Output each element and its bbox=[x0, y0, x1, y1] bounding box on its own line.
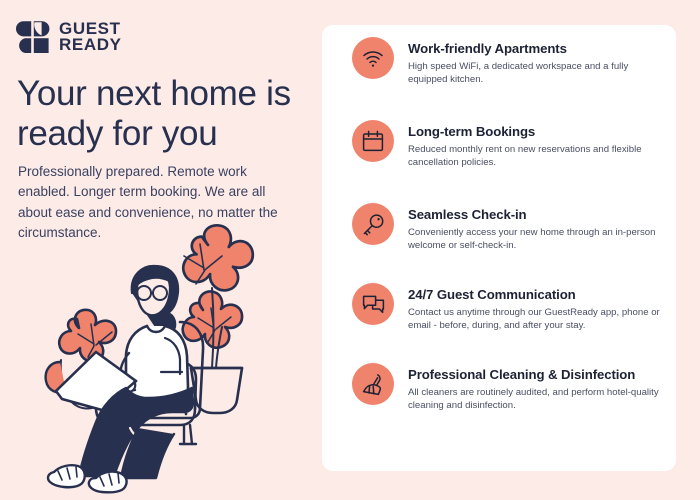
feature-item-guest-communication[interactable]: 24/7 Guest Communication Contact us anyt… bbox=[352, 283, 662, 333]
feature-description: Reduced monthly rent on new reservations… bbox=[408, 143, 662, 170]
feature-title: Work-friendly Apartments bbox=[408, 41, 662, 57]
page-title: Your next home is ready for you bbox=[17, 74, 307, 153]
chat-bubbles-icon bbox=[352, 283, 394, 325]
promo-page: GUEST READY Your next home is ready for … bbox=[0, 0, 700, 500]
feature-description: All cleaners are routinely audited, and … bbox=[408, 386, 662, 413]
key-icon bbox=[352, 203, 394, 245]
feature-text: Long-term Bookings Reduced monthly rent … bbox=[408, 120, 662, 170]
feature-text: Professional Cleaning & Disinfection All… bbox=[408, 363, 662, 413]
feature-title: Seamless Check-in bbox=[408, 207, 662, 223]
feature-text: Work-friendly Apartments High speed WiFi… bbox=[408, 37, 662, 87]
feature-title: 24/7 Guest Communication bbox=[408, 287, 662, 303]
hero-column: GUEST READY Your next home is ready for … bbox=[0, 0, 322, 500]
feature-description: Conveniently access your new home throug… bbox=[408, 226, 662, 253]
hero-illustration bbox=[34, 222, 322, 494]
feature-text: 24/7 Guest Communication Contact us anyt… bbox=[408, 283, 662, 333]
feature-text: Seamless Check-in Conveniently access yo… bbox=[408, 203, 662, 253]
feature-item-long-term-bookings[interactable]: Long-term Bookings Reduced monthly rent … bbox=[352, 120, 662, 170]
features-card: Work-friendly Apartments High speed WiFi… bbox=[322, 25, 676, 471]
feature-title: Professional Cleaning & Disinfection bbox=[408, 367, 662, 383]
brand-name-line2: READY bbox=[59, 35, 122, 54]
wifi-icon bbox=[352, 37, 394, 79]
brand-name: GUEST READY bbox=[59, 21, 122, 53]
feature-description: Contact us anytime through our GuestRead… bbox=[408, 306, 662, 333]
broom-icon bbox=[352, 363, 394, 405]
feature-item-seamless-check-in[interactable]: Seamless Check-in Conveniently access yo… bbox=[352, 203, 662, 253]
brand-logo[interactable]: GUEST READY bbox=[16, 20, 122, 54]
feature-item-work-friendly-apartments[interactable]: Work-friendly Apartments High speed WiFi… bbox=[352, 37, 662, 87]
guestready-logo-mark-icon bbox=[16, 20, 50, 54]
calendar-icon bbox=[352, 120, 394, 162]
feature-title: Long-term Bookings bbox=[408, 124, 662, 140]
feature-description: High speed WiFi, a dedicated workspace a… bbox=[408, 60, 662, 87]
feature-item-professional-cleaning[interactable]: Professional Cleaning & Disinfection All… bbox=[352, 363, 662, 413]
